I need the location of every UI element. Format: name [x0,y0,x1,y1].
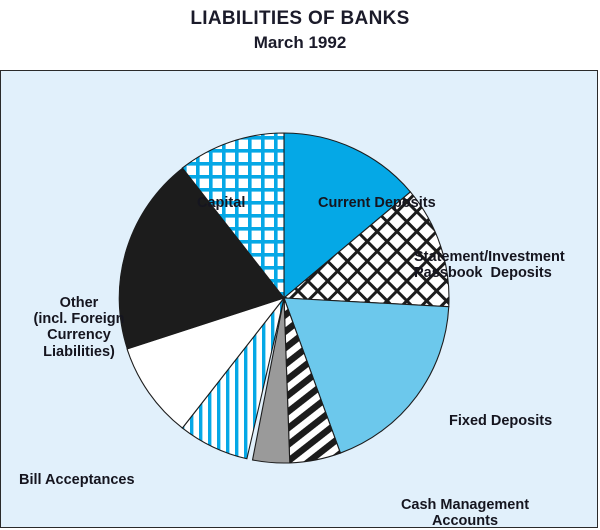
pie-chart-figure: LIABILITIES OF BANKS March 1992 [0,0,600,530]
page-title: LIABILITIES OF BANKS [0,0,600,30]
chart-subtitle: March 1992 [0,30,600,53]
slice-label-current-deposits: Current Deposits [318,195,436,211]
slice-label-statement-passbook-deposits: Statement/Investment Passbook Deposits [414,249,565,281]
slice-label-fixed-deposits: Fixed Deposits [449,413,552,429]
plot-panel: Current DepositsStatement/Investment Pas… [0,70,598,528]
slice-label-other: Other (incl. Foreign Currency Liabilitie… [9,295,149,360]
slice-label-capital: Capital [197,195,245,211]
pie-slice-group: Current DepositsStatement/Investment Pas… [119,133,449,463]
title-block: LIABILITIES OF BANKS March 1992 [0,0,600,53]
slice-label-cash-management-accounts: Cash Management Accounts [390,497,540,528]
slice-label-bill-acceptances: Bill Acceptances [19,472,135,488]
